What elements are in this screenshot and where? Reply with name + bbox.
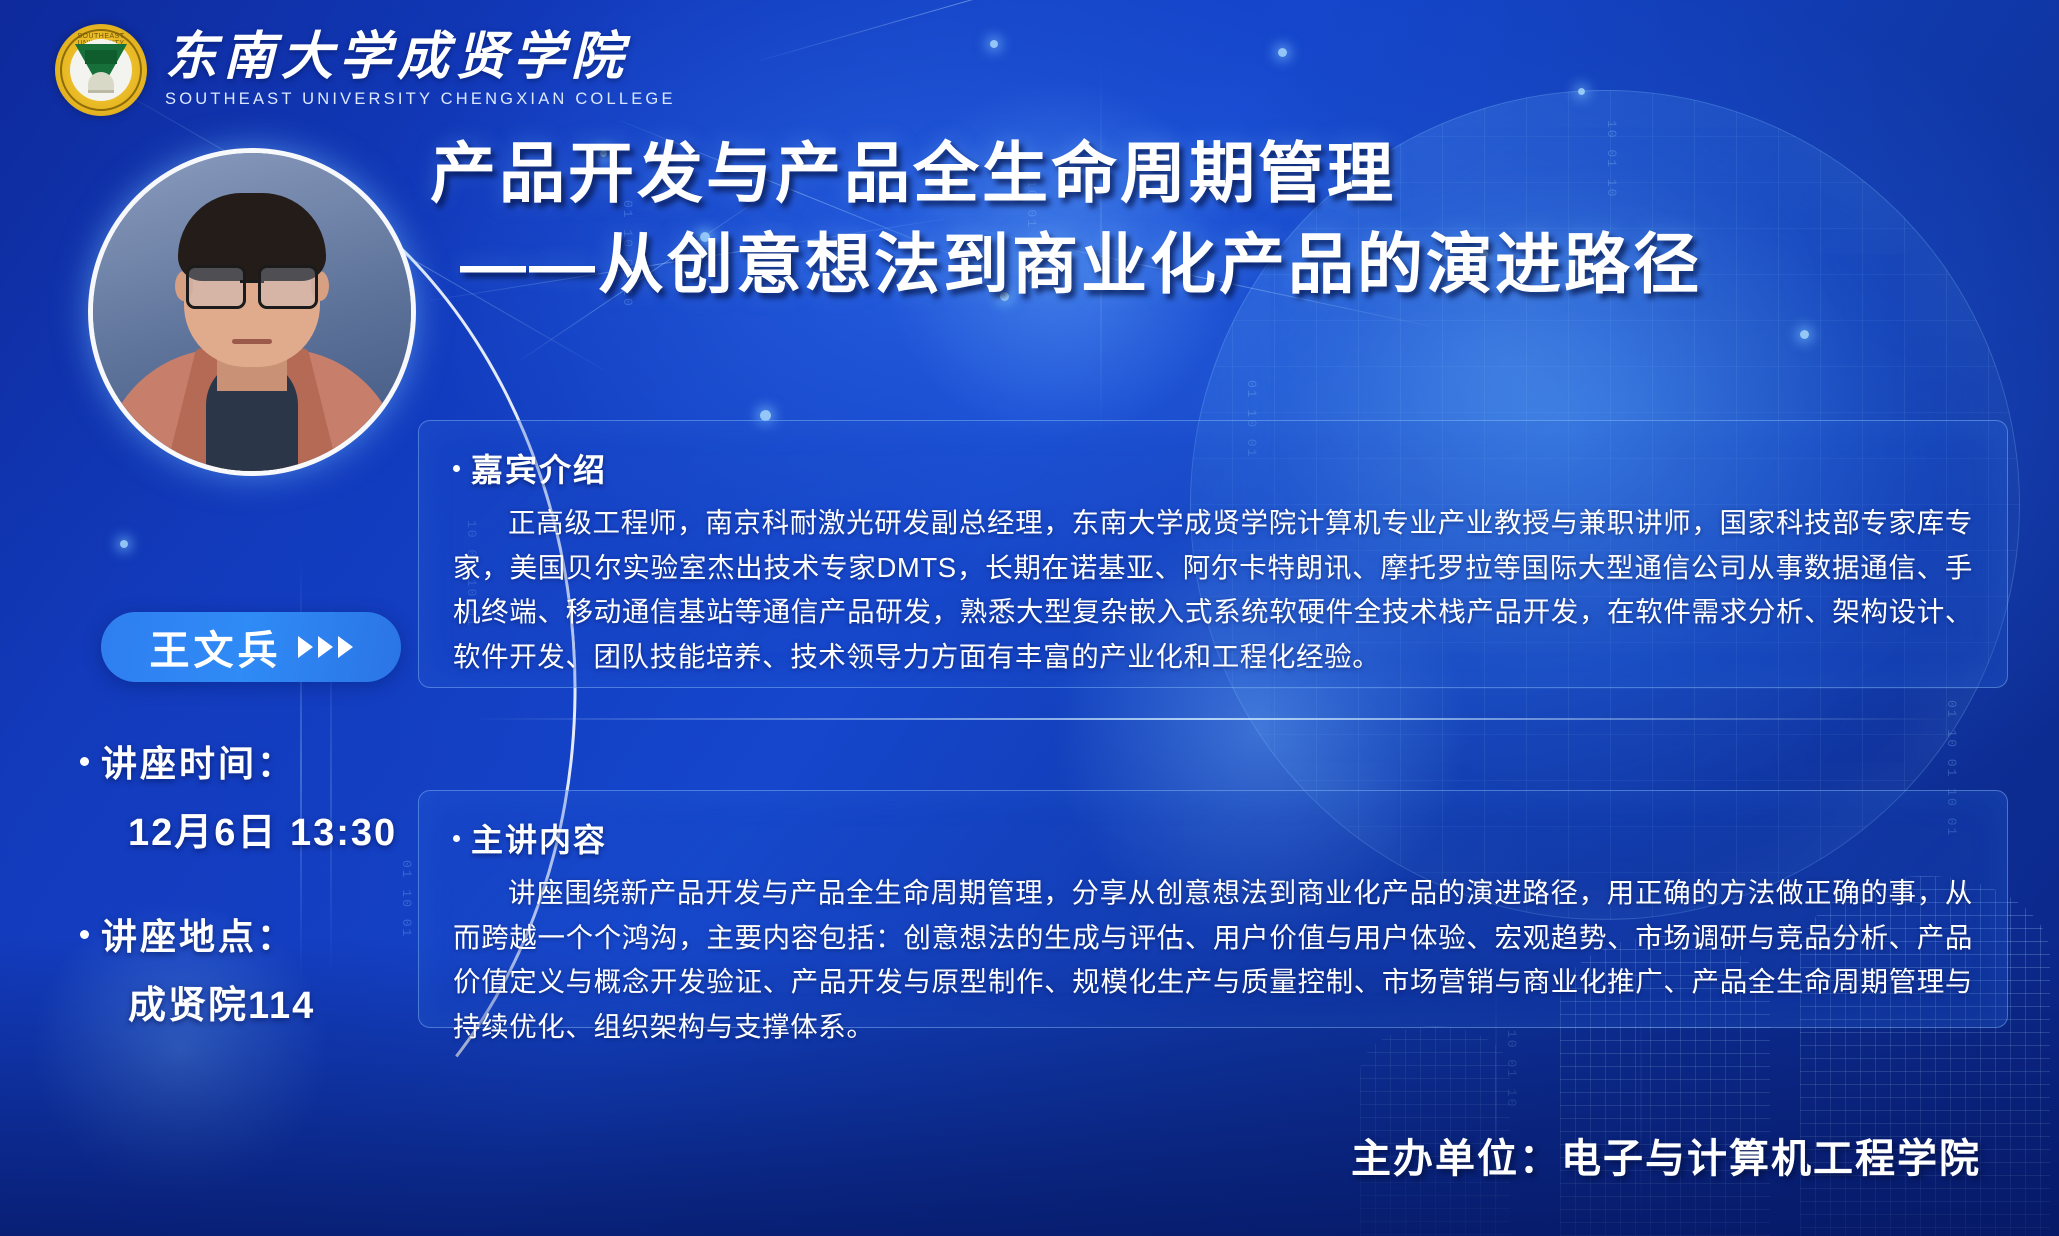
network-node <box>120 540 128 548</box>
network-line <box>760 0 1164 61</box>
lecture-time-label-row: 讲座时间： <box>80 735 440 787</box>
bullet-dot-icon <box>80 930 89 939</box>
bullet-dot-icon <box>80 757 89 766</box>
lecture-time-value: 12月6日 13:30 <box>128 801 440 856</box>
organizer-text: 主办单位：电子与计算机工程学院 <box>1351 1126 1981 1184</box>
speaker-portrait <box>88 148 416 476</box>
network-node <box>1578 88 1585 95</box>
lecture-place-value: 成贤院114 <box>128 974 440 1029</box>
lecture-content-heading: 主讲内容 <box>471 815 607 861</box>
guest-intro-heading-row: 嘉宾介绍 <box>453 445 1973 491</box>
network-node <box>1800 330 1809 339</box>
lecture-content-body: 讲座围绕新产品开发与产品全生命周期管理，分享从创意想法到商业化产品的演进路径，用… <box>453 871 1973 1049</box>
logo-name-en: SOUTHEAST UNIVERSITY CHENGXIAN COLLEGE <box>165 90 676 109</box>
guest-intro-heading: 嘉宾介绍 <box>471 445 607 491</box>
network-node <box>990 40 998 48</box>
university-seal-icon: SOUTHEAST UNIVERSITY <box>55 24 147 116</box>
poster-title: 产品开发与产品全生命周期管理 ——从创意想法到商业化产品的演进路径 <box>430 128 1990 310</box>
triple-arrow-icon <box>298 636 353 658</box>
guest-intro-body: 正高级工程师，南京科耐激光研发副总经理，东南大学成贤学院计算机专业产业教授与兼职… <box>453 501 1973 679</box>
speaker-name-badge: 王文兵 <box>101 612 401 682</box>
section-divider <box>470 718 1950 720</box>
lecture-content-heading-row: 主讲内容 <box>453 815 1973 861</box>
lecture-place-label: 讲座地点： <box>101 908 296 960</box>
network-node <box>1278 48 1287 57</box>
lecture-place-label-row: 讲座地点： <box>80 908 440 960</box>
title-line-2: ——从创意想法到商业化产品的演进路径 <box>430 219 1990 310</box>
title-line-1: 产品开发与产品全生命周期管理 <box>430 128 1990 219</box>
lecture-time-label: 讲座时间： <box>101 735 296 787</box>
lecture-content-panel: 主讲内容 讲座围绕新产品开发与产品全生命周期管理，分享从创意想法到商业化产品的演… <box>418 790 2008 1028</box>
guest-intro-panel: 嘉宾介绍 正高级工程师，南京科耐激光研发副总经理，东南大学成贤学院计算机专业产业… <box>418 420 2008 688</box>
bullet-dot-icon <box>453 465 460 472</box>
schedule-info: 讲座时间： 12月6日 13:30 讲座地点： 成贤院114 <box>80 735 440 1029</box>
glasses-icon <box>186 265 318 305</box>
university-logo: SOUTHEAST UNIVERSITY 东南大学成贤学院 SOUTHEAST … <box>55 24 676 116</box>
poster-root: 01 10 01 10 10 01 10 01 01 10 01 10 01 1… <box>0 0 2059 1236</box>
bullet-dot-icon <box>453 835 460 842</box>
speaker-name: 王文兵 <box>150 618 282 676</box>
logo-name-cn: 东南大学成贤学院 <box>165 31 676 86</box>
